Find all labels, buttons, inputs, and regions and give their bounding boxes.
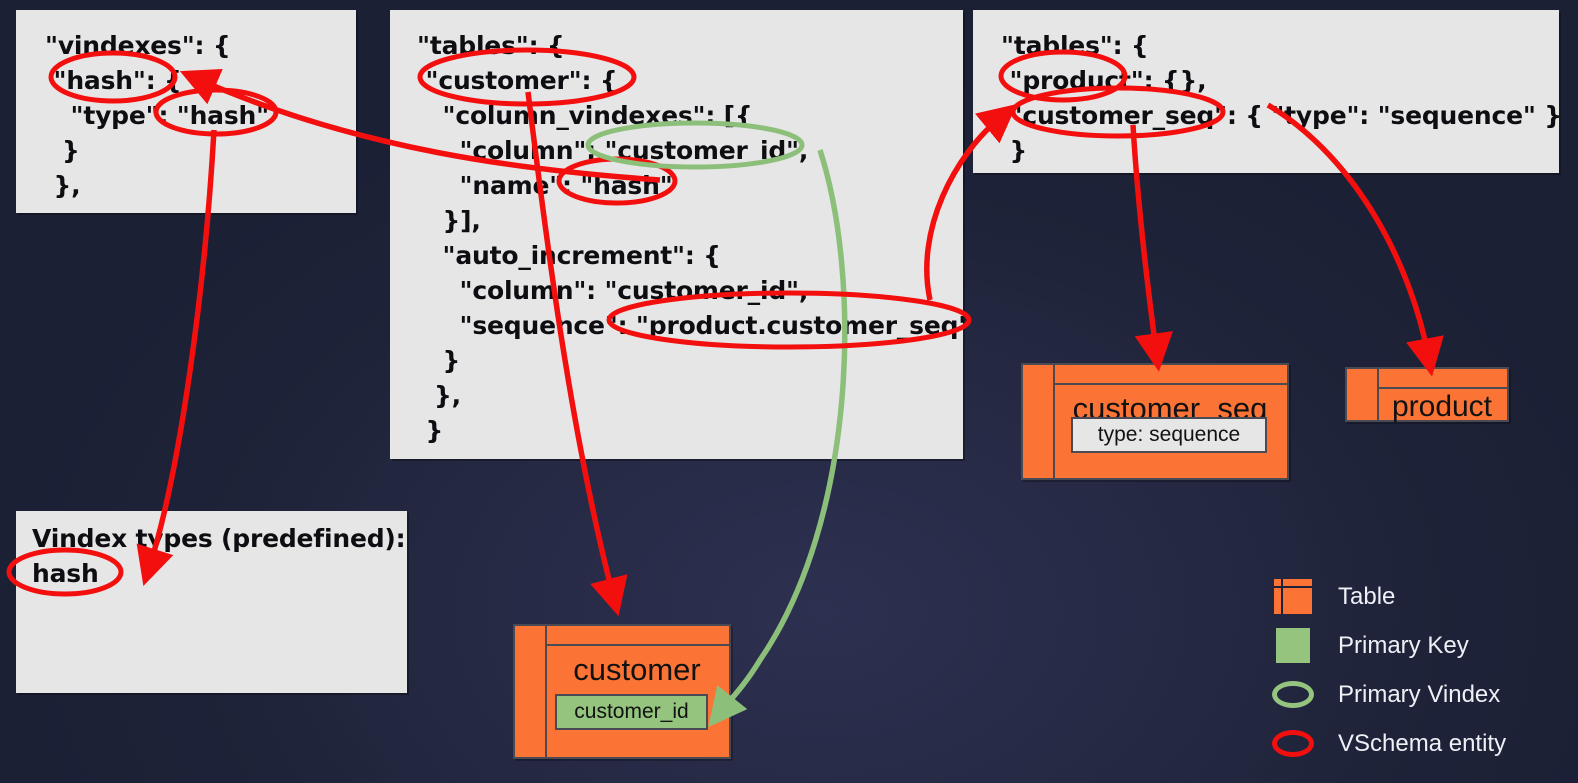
legend-label: Table	[1338, 583, 1395, 611]
vindex-types-panel: Vindex types (predefined): hash	[16, 511, 407, 693]
table-attribute-type-sequence: type: sequence	[1071, 417, 1267, 453]
table-column-strip	[1347, 369, 1379, 420]
legend-item-primary-key: Primary Key	[1270, 621, 1570, 670]
tables-json-code: "tables": { "customer": { "column_vindex…	[417, 28, 971, 448]
vindexes-json-code: "vindexes": { "hash": { "type": "hash" }…	[45, 28, 269, 203]
legend-label: Primary Key	[1338, 632, 1469, 660]
table-column-strip	[1023, 365, 1055, 478]
table-box-product: product	[1345, 367, 1509, 422]
primary-key-customer-id: customer_id	[555, 694, 708, 730]
table-header-strip	[545, 626, 729, 646]
table-name-label: customer	[545, 644, 729, 688]
table-box-customer: customer customer_id	[513, 624, 731, 759]
table-column-strip	[515, 626, 547, 757]
primary-vindex-icon	[1270, 675, 1316, 715]
product-keyspace-panel: "tables": { "product": {}, "customer_seq…	[973, 10, 1559, 173]
product-json-code: "tables": { "product": {}, "customer_seq…	[1001, 28, 1562, 168]
legend-item-primary-vindex: Primary Vindex	[1270, 670, 1570, 719]
table-header-strip	[1053, 365, 1287, 385]
table-icon	[1270, 577, 1316, 617]
legend-label: VSchema entity	[1338, 730, 1506, 758]
vschema-entity-icon	[1270, 724, 1316, 764]
legend-item-vschema-entity: VSchema entity	[1270, 719, 1570, 768]
legend-item-table: Table	[1270, 572, 1570, 621]
tables-panel: "tables": { "customer": { "column_vindex…	[390, 10, 963, 459]
vindexes-panel: "vindexes": { "hash": { "type": "hash" }…	[16, 10, 356, 213]
legend-label: Primary Vindex	[1338, 681, 1500, 709]
vindex-types-text: Vindex types (predefined): hash	[32, 521, 405, 591]
primary-key-icon	[1270, 626, 1316, 666]
diagram-canvas: "vindexes": { "hash": { "type": "hash" }…	[0, 0, 1578, 783]
legend: Table Primary Key Primary Vindex VSchema…	[1270, 572, 1570, 768]
table-header-strip	[1377, 369, 1507, 389]
table-name-label: product	[1377, 387, 1507, 424]
table-box-customer-seq: customer_seq type: sequence	[1021, 363, 1289, 480]
